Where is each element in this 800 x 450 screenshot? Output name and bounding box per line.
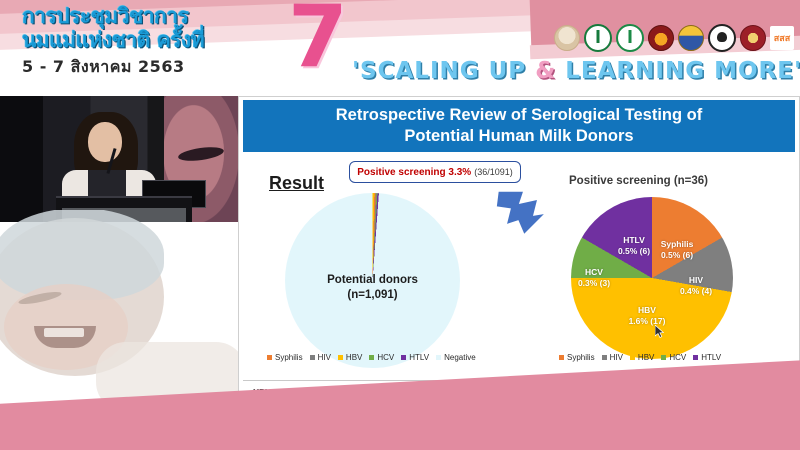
logo-ministry-public-health-1 (584, 24, 612, 52)
legend-swatch-htlv (401, 355, 406, 360)
legend-item-hcv: HCV (369, 353, 394, 362)
legend-label-hbv-right: HBV (638, 353, 654, 362)
logo-ministry-public-health-2 (616, 24, 644, 52)
mouse-cursor-icon (655, 325, 664, 338)
left-pie-label-line-1: Potential donors (285, 273, 460, 288)
legend-item-hcv-right: HCV (661, 353, 686, 362)
legend-swatch-hbv-right (630, 355, 635, 360)
conference-banner: การประชุมวิชาการ นมแม่แห่งชาติ ครั้งที่ … (0, 0, 800, 96)
legend-label-syphilis-right: Syphilis (567, 353, 595, 362)
conference-thai-title: การประชุมวิชาการ นมแม่แห่งชาติ ครั้งที่ … (22, 4, 322, 80)
legend-label-htlv: HTLV (409, 353, 429, 362)
right-positive-pie-chart: Syphilis 0.5% (6) HIV 0.4% (4) HBV 1.6% … (565, 193, 745, 368)
legend-item-hbv: HBV (338, 353, 362, 362)
logo-thaihealth-sss: สสส (770, 26, 794, 50)
left-pie-label-line-2: (n=1,091) (285, 288, 460, 303)
callout-fraction-text: (36/1091) (474, 167, 513, 177)
thai-title-line-1: การประชุมวิชาการ (22, 4, 322, 28)
speaker-face (88, 122, 122, 162)
left-pie-legend: Syphilis HIV HBV HCV HTLV Negative (267, 353, 476, 362)
conference-tagline: 'SCALING UP & LEARNING MORE' (352, 58, 800, 84)
pie-label-hcv: HCV 0.3% (3) (571, 267, 617, 288)
legend-swatch-hcv-right (661, 355, 666, 360)
legend-swatch-syphilis (267, 355, 272, 360)
pie-label-htlv-name: HTLV (609, 235, 659, 246)
speaker-video-panel[interactable] (0, 96, 238, 222)
slide-title-line-2: Potential Human Milk Donors (404, 126, 633, 147)
thai-title-line-2: นมแม่แห่งชาติ ครั้งที่ (22, 28, 322, 52)
legend-label-hcv-right: HCV (669, 353, 686, 362)
logo-buddha-emblem (554, 25, 580, 51)
pie-label-hbv: HBV 1.6% (17) (617, 305, 677, 326)
legend-swatch-negative (436, 355, 441, 360)
screenshot-stage: การประชุมวิชาการ นมแม่แห่งชาติ ครั้งที่ … (0, 0, 800, 450)
pie-label-hbv-value: 1.6% (17) (617, 316, 677, 327)
pie-label-hcv-value: 0.3% (3) (571, 278, 617, 289)
baby-teeth (44, 328, 84, 337)
slide-title-line-1: Retrospective Review of Serological Test… (336, 105, 702, 126)
sponsor-logo-row: สสส (554, 24, 794, 52)
positive-screening-callout: Positive screening 3.3% (36/1091) (349, 161, 521, 183)
legend-label-syphilis: Syphilis (275, 353, 303, 362)
legend-swatch-hiv-right (602, 355, 607, 360)
legend-label-hcv: HCV (377, 353, 394, 362)
legend-swatch-htlv-right (693, 355, 698, 360)
baby-watermark-image (0, 210, 250, 410)
legend-item-negative: Negative (436, 353, 476, 362)
legend-label-hiv-right: HIV (610, 353, 623, 362)
pie-label-hiv-value: 0.4% (4) (673, 286, 719, 297)
legend-item-htlv: HTLV (401, 353, 429, 362)
slide-title: Retrospective Review of Serological Test… (243, 100, 795, 152)
legend-label-htlv-right: HTLV (701, 353, 721, 362)
legend-label-hbv: HBV (346, 353, 362, 362)
conference-date: 5 - 7 สิงหาคม 2563 (22, 55, 322, 80)
left-donor-pie-chart: Potential donors (n=1,091) (285, 193, 465, 373)
pie-label-htlv-value: 0.5% (6) (609, 246, 659, 257)
legend-item-hbv-right: HBV (630, 353, 654, 362)
pie-label-hbv-name: HBV (617, 305, 677, 316)
logo-royal-college (648, 25, 674, 51)
pie-label-hiv-name: HIV (673, 275, 719, 286)
legend-swatch-hiv (310, 355, 315, 360)
legend-label-hiv: HIV (318, 353, 331, 362)
blue-arrow-icon (494, 189, 548, 237)
tagline-part-2: LEARNING MORE' (556, 58, 800, 84)
right-pie-legend: Syphilis HIV HBV HCV HTLV (559, 353, 721, 362)
logo-red-crest (740, 25, 766, 51)
legend-item-hiv-right: HIV (602, 353, 623, 362)
legend-item-hiv: HIV (310, 353, 331, 362)
legend-swatch-syphilis-right (559, 355, 564, 360)
presentation-slide: Retrospective Review of Serological Test… (238, 96, 800, 406)
result-heading: Result (269, 173, 324, 194)
logo-royal-crest (678, 25, 704, 51)
left-pie-center-label: Potential donors (n=1,091) (285, 273, 460, 303)
right-pie-title: Positive screening (n=36) (569, 175, 708, 187)
tagline-ampersand: & (535, 58, 556, 84)
legend-label-negative: Negative (444, 353, 476, 362)
conference-edition-number: 7 (288, 0, 348, 80)
logo-medical-association (708, 24, 736, 52)
pie-label-hcv-name: HCV (571, 267, 617, 278)
legend-swatch-hcv (369, 355, 374, 360)
callout-percent-text: Positive screening 3.3% (357, 167, 471, 178)
tagline-part-1: 'SCALING UP (352, 58, 535, 84)
pie-label-htlv: HTLV 0.5% (6) (609, 235, 659, 256)
pie-label-hiv: HIV 0.4% (4) (673, 275, 719, 296)
legend-swatch-hbv (338, 355, 343, 360)
legend-item-htlv-right: HTLV (693, 353, 721, 362)
legend-item-syphilis: Syphilis (267, 353, 303, 362)
legend-item-syphilis-right: Syphilis (559, 353, 595, 362)
